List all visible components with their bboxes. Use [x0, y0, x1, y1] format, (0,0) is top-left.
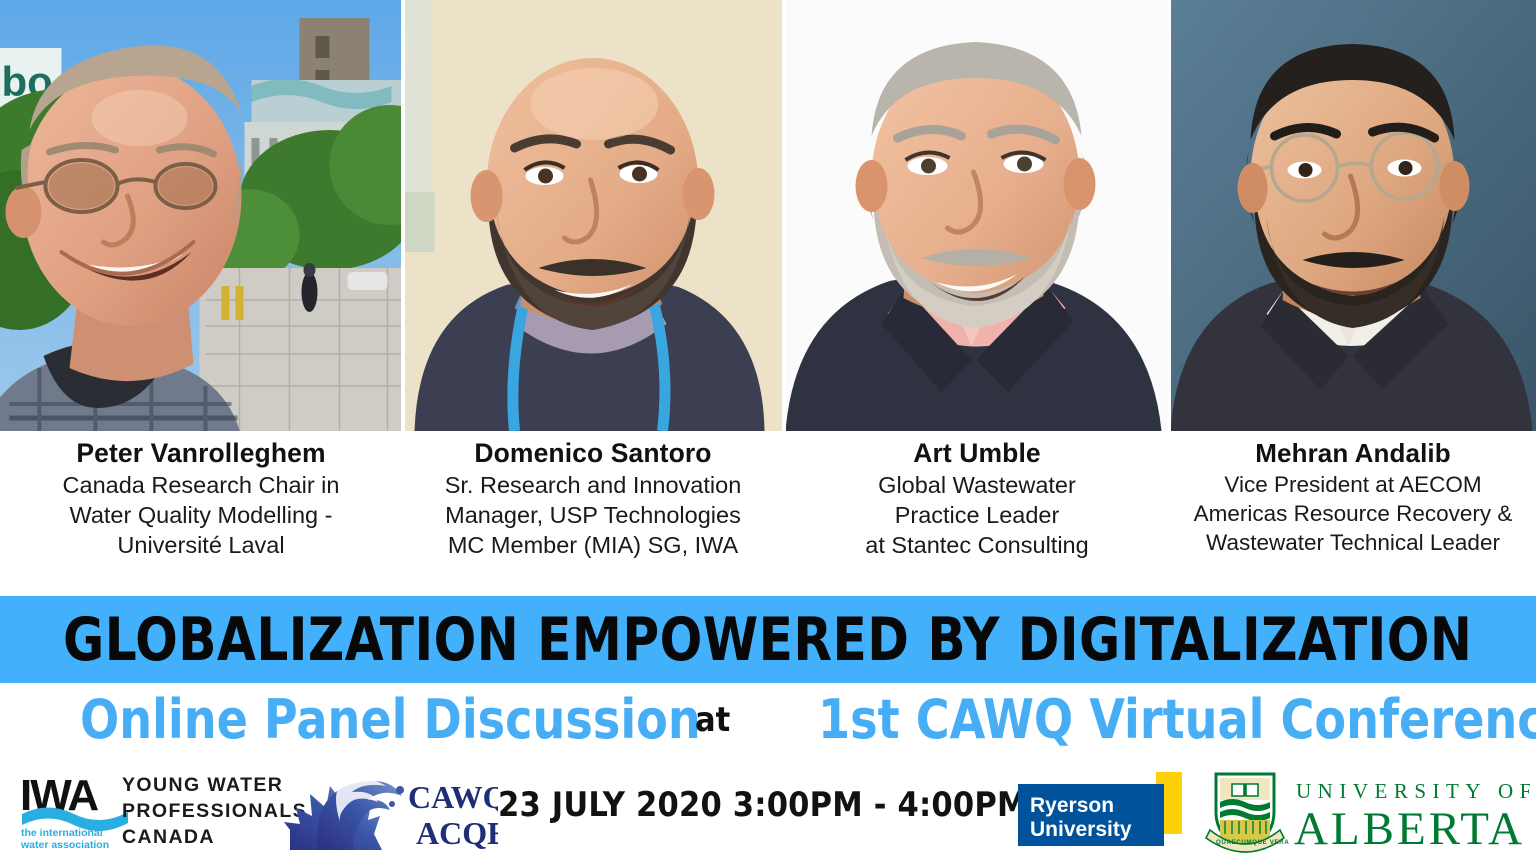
speaker-name-2: Domenico Santoro — [402, 437, 784, 469]
subtitle-right: 1st CAWQ Virtual Conference — [818, 682, 1536, 758]
speaker-role-4-line-2: Americas Resource Recovery & — [1170, 499, 1536, 528]
cawq-logo: CAWQ ACQE — [282, 764, 498, 860]
ualberta-logo-mark: QUAECUMQUE VERA UNIVERSITY OF ALBERTA — [1204, 768, 1530, 858]
speaker-role-4-line-3: Wastewater Technical Leader — [1170, 528, 1536, 557]
event-datetime: 23 JULY 2020 3:00PM - 4:00PM (EST) — [498, 782, 1012, 828]
subtitle-left: Online Panel Discussion — [80, 682, 701, 758]
ywp-line-1: YOUNG WATER — [122, 772, 307, 798]
speaker-caption-4: Mehran Andalib Vice President at AECOM A… — [1170, 431, 1536, 596]
speaker-role-3-line-3: at Stantec Consulting — [784, 530, 1170, 560]
ryerson-logo-mark: Ryerson University — [1016, 772, 1194, 854]
speaker-caption-3: Art Umble Global Wastewater Practice Lea… — [784, 431, 1170, 596]
speaker-caption-2: Domenico Santoro Sr. Research and Innova… — [402, 431, 784, 596]
speaker-role-1-line-1: Canada Research Chair in — [0, 470, 402, 500]
iwa-tagline-line-2: water association — [20, 839, 109, 850]
headline-banner: GLOBALIZATION EMPOWERED BY DIGITALIZATIO… — [0, 596, 1536, 683]
ywp-canada-logo: YOUNG WATER PROFESSIONALS CANADA — [122, 772, 307, 850]
sponsor-logo-row: IWA the international water association … — [0, 760, 1536, 864]
ywp-line-3: CANADA — [122, 824, 307, 850]
ryerson-line-1: Ryerson — [1030, 794, 1114, 817]
speaker-photo-strip: bo — [0, 0, 1536, 431]
subtitle-right-wrap: 1st CAWQ Virtual Conference — [818, 682, 1536, 758]
iwa-tagline-line-1: the international — [21, 827, 103, 839]
portrait-peter-vanrolleghem-image: bo — [0, 0, 401, 431]
headline-text: GLOBALIZATION EMPOWERED BY DIGITALIZATIO… — [63, 605, 1472, 675]
speaker-role-1-line-3: Université Laval — [0, 530, 402, 560]
speaker-role-1-line-2: Water Quality Modelling - — [0, 500, 402, 530]
speaker-photo-2 — [405, 0, 782, 431]
subtitle-left-wrap: Online Panel Discussion — [80, 682, 733, 758]
ualberta-line-2: ALBERTA — [1294, 803, 1525, 855]
subtitle-connector: at — [695, 698, 730, 742]
speaker-role-3-line-1: Global Wastewater — [784, 470, 1170, 500]
speaker-name-4: Mehran Andalib — [1170, 437, 1536, 469]
ywp-line-2: PROFESSIONALS — [122, 798, 307, 824]
speaker-role-3: Global Wastewater Practice Leader at Sta… — [784, 470, 1170, 560]
speaker-photo-4 — [1171, 0, 1536, 431]
speaker-role-3-line-2: Practice Leader — [784, 500, 1170, 530]
university-of-alberta-logo: QUAECUMQUE VERA UNIVERSITY OF ALBERTA — [1204, 768, 1530, 858]
ryerson-university-logo: Ryerson University — [1016, 772, 1194, 854]
speaker-name-3: Art Umble — [784, 437, 1170, 469]
speaker-role-2: Sr. Research and Innovation Manager, USP… — [402, 470, 784, 560]
speaker-role-1: Canada Research Chair in Water Quality M… — [0, 470, 402, 560]
speaker-role-2-line-1: Sr. Research and Innovation — [402, 470, 784, 500]
speaker-role-4-line-1: Vice President at AECOM — [1170, 470, 1536, 499]
cawq-logo-mark: CAWQ ACQE — [282, 764, 498, 860]
portrait-mehran-andalib-image — [1171, 0, 1536, 431]
speaker-captions: Peter Vanrolleghem Canada Research Chair… — [0, 431, 1536, 596]
iwa-logo: IWA the international water association — [20, 770, 130, 850]
cawq-droplet-1-icon — [396, 786, 404, 794]
speaker-name-1: Peter Vanrolleghem — [0, 437, 402, 469]
portrait-domenico-santoro-image — [405, 0, 782, 431]
speaker-role-2-line-3: MC Member (MIA) SG, IWA — [402, 530, 784, 560]
ryerson-line-2: University — [1030, 818, 1132, 841]
event-poster: bo — [0, 0, 1536, 864]
subtitle-connector-wrap: at — [695, 698, 730, 742]
ualberta-motto: QUAECUMQUE VERA — [1216, 839, 1289, 846]
cawq-text-line-2: ACQE — [416, 815, 498, 851]
ualberta-line-1: UNIVERSITY OF — [1296, 779, 1530, 803]
speaker-photo-1: bo — [0, 0, 401, 431]
speaker-role-2-line-2: Manager, USP Technologies — [402, 500, 784, 530]
speaker-photo-3 — [786, 0, 1167, 431]
speaker-role-4: Vice President at AECOM Americas Resourc… — [1170, 470, 1536, 557]
speaker-caption-1: Peter Vanrolleghem Canada Research Chair… — [0, 431, 402, 596]
iwa-logo-mark: IWA the international water association — [20, 770, 130, 850]
cawq-text-line-1: CAWQ — [408, 779, 498, 815]
portrait-art-umble-image — [786, 0, 1167, 431]
subtitle-row: Online Panel Discussion at 1st CAWQ Virt… — [0, 684, 1536, 760]
cawq-droplet-2-icon — [389, 801, 395, 807]
